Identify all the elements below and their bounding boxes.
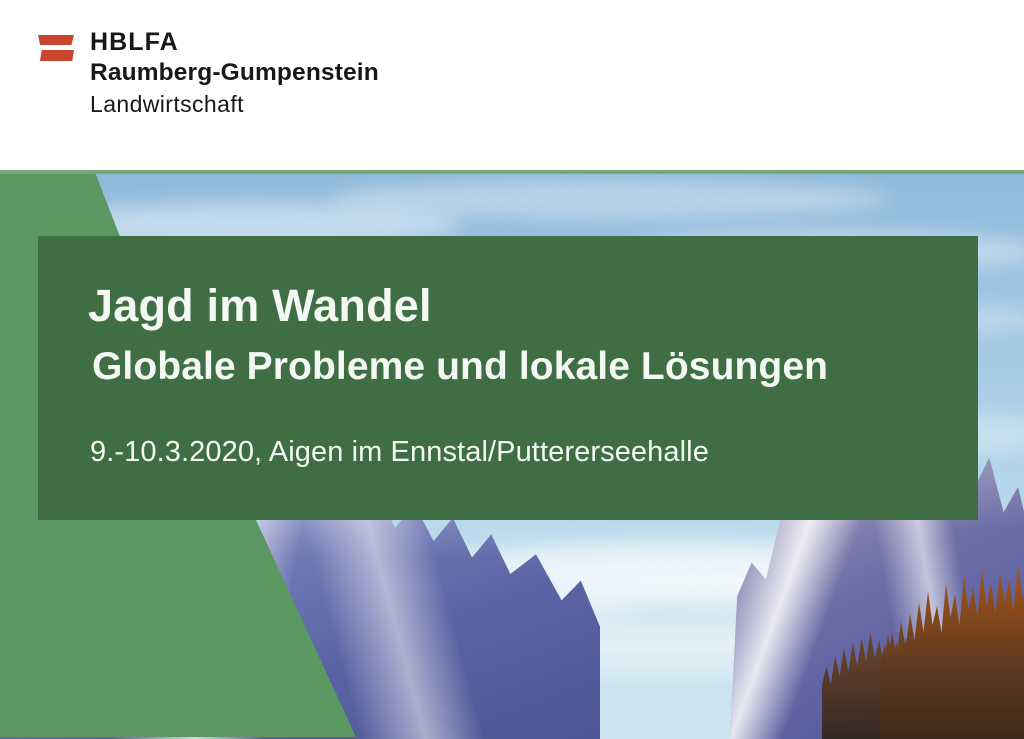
event-title: Jagd im Wandel [88, 280, 432, 332]
poster-page: HBLFA Raumberg-Gumpenstein Landwirtschaf… [0, 0, 1024, 739]
event-date-location: 9.-10.3.2020, Aigen im Ennstal/Putterers… [90, 434, 709, 470]
event-subtitle: Globale Probleme und lokale Lösungen [92, 344, 828, 390]
logo-line-raumberg-gumpenstein: Raumberg-Gumpenstein [90, 57, 379, 89]
organisation-logo[interactable]: HBLFA Raumberg-Gumpenstein Landwirtschaf… [38, 27, 379, 120]
austria-flag-mark-icon [38, 33, 78, 69]
logo-line-landwirtschaft: Landwirtschaft [90, 89, 379, 120]
hero-top-rule [0, 170, 1024, 174]
cloud [330, 180, 890, 218]
flag-bar-top [38, 35, 74, 45]
flag-bar-bottom [40, 50, 74, 61]
title-banner: Jagd im Wandel Globale Probleme und loka… [38, 236, 978, 520]
logo-line-hblfa: HBLFA [90, 27, 379, 57]
hero-section: Jagd im Wandel Globale Probleme und loka… [0, 170, 1024, 739]
header-band: HBLFA Raumberg-Gumpenstein Landwirtschaf… [0, 0, 1024, 170]
logo-wordmark: HBLFA Raumberg-Gumpenstein Landwirtschaf… [90, 27, 379, 120]
